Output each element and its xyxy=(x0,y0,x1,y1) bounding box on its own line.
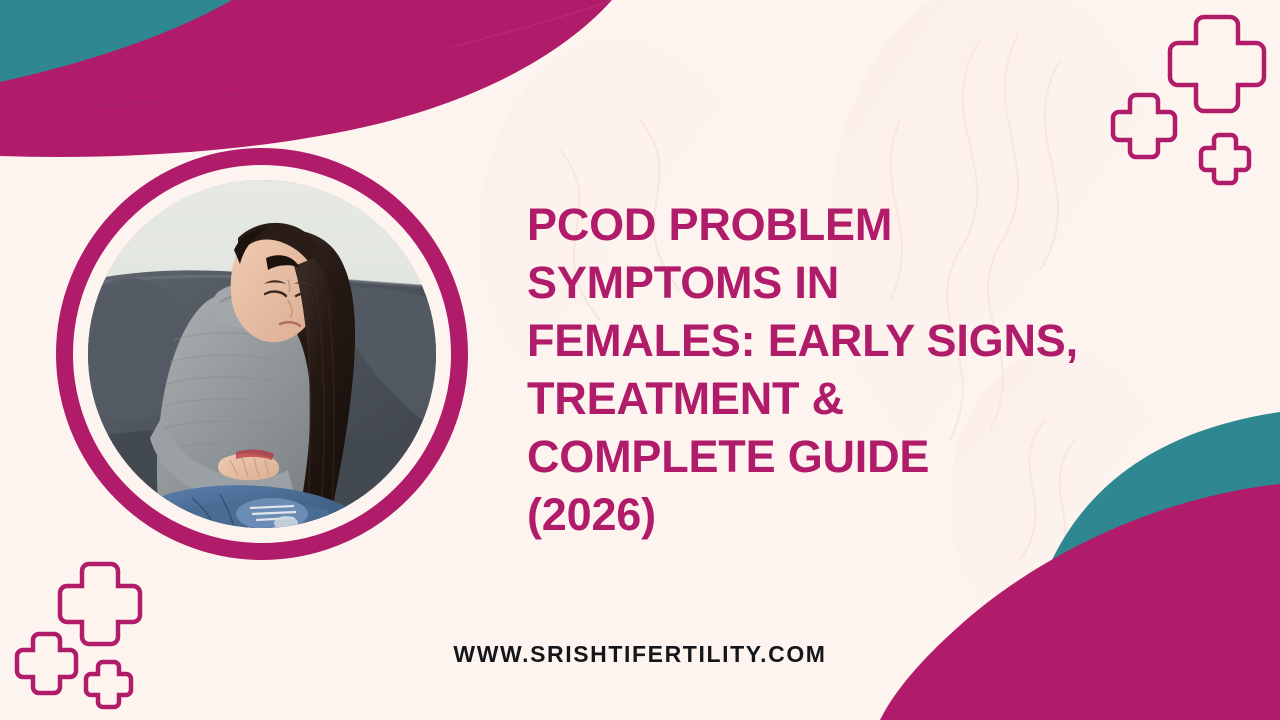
title-line-4: TREATMENT & xyxy=(527,370,1167,428)
site-url: WWW.SRISHTIFERTILITY.COM xyxy=(0,641,1280,668)
page-title: PCOD PROBLEM SYMPTOMS IN FEMALES: EARLY … xyxy=(527,196,1167,544)
poster-canvas: PCOD PROBLEM SYMPTOMS IN FEMALES: EARLY … xyxy=(0,0,1280,720)
photo-ring-outer xyxy=(56,148,468,560)
title-line-1: PCOD PROBLEM xyxy=(527,196,1167,254)
title-line-5: COMPLETE GUIDE xyxy=(527,428,1167,486)
title-line-2: SYMPTOMS IN xyxy=(527,254,1167,312)
hero-photo xyxy=(56,148,468,560)
title-line-3: FEMALES: EARLY SIGNS, xyxy=(527,312,1167,370)
title-line-6: (2026) xyxy=(527,486,1167,544)
